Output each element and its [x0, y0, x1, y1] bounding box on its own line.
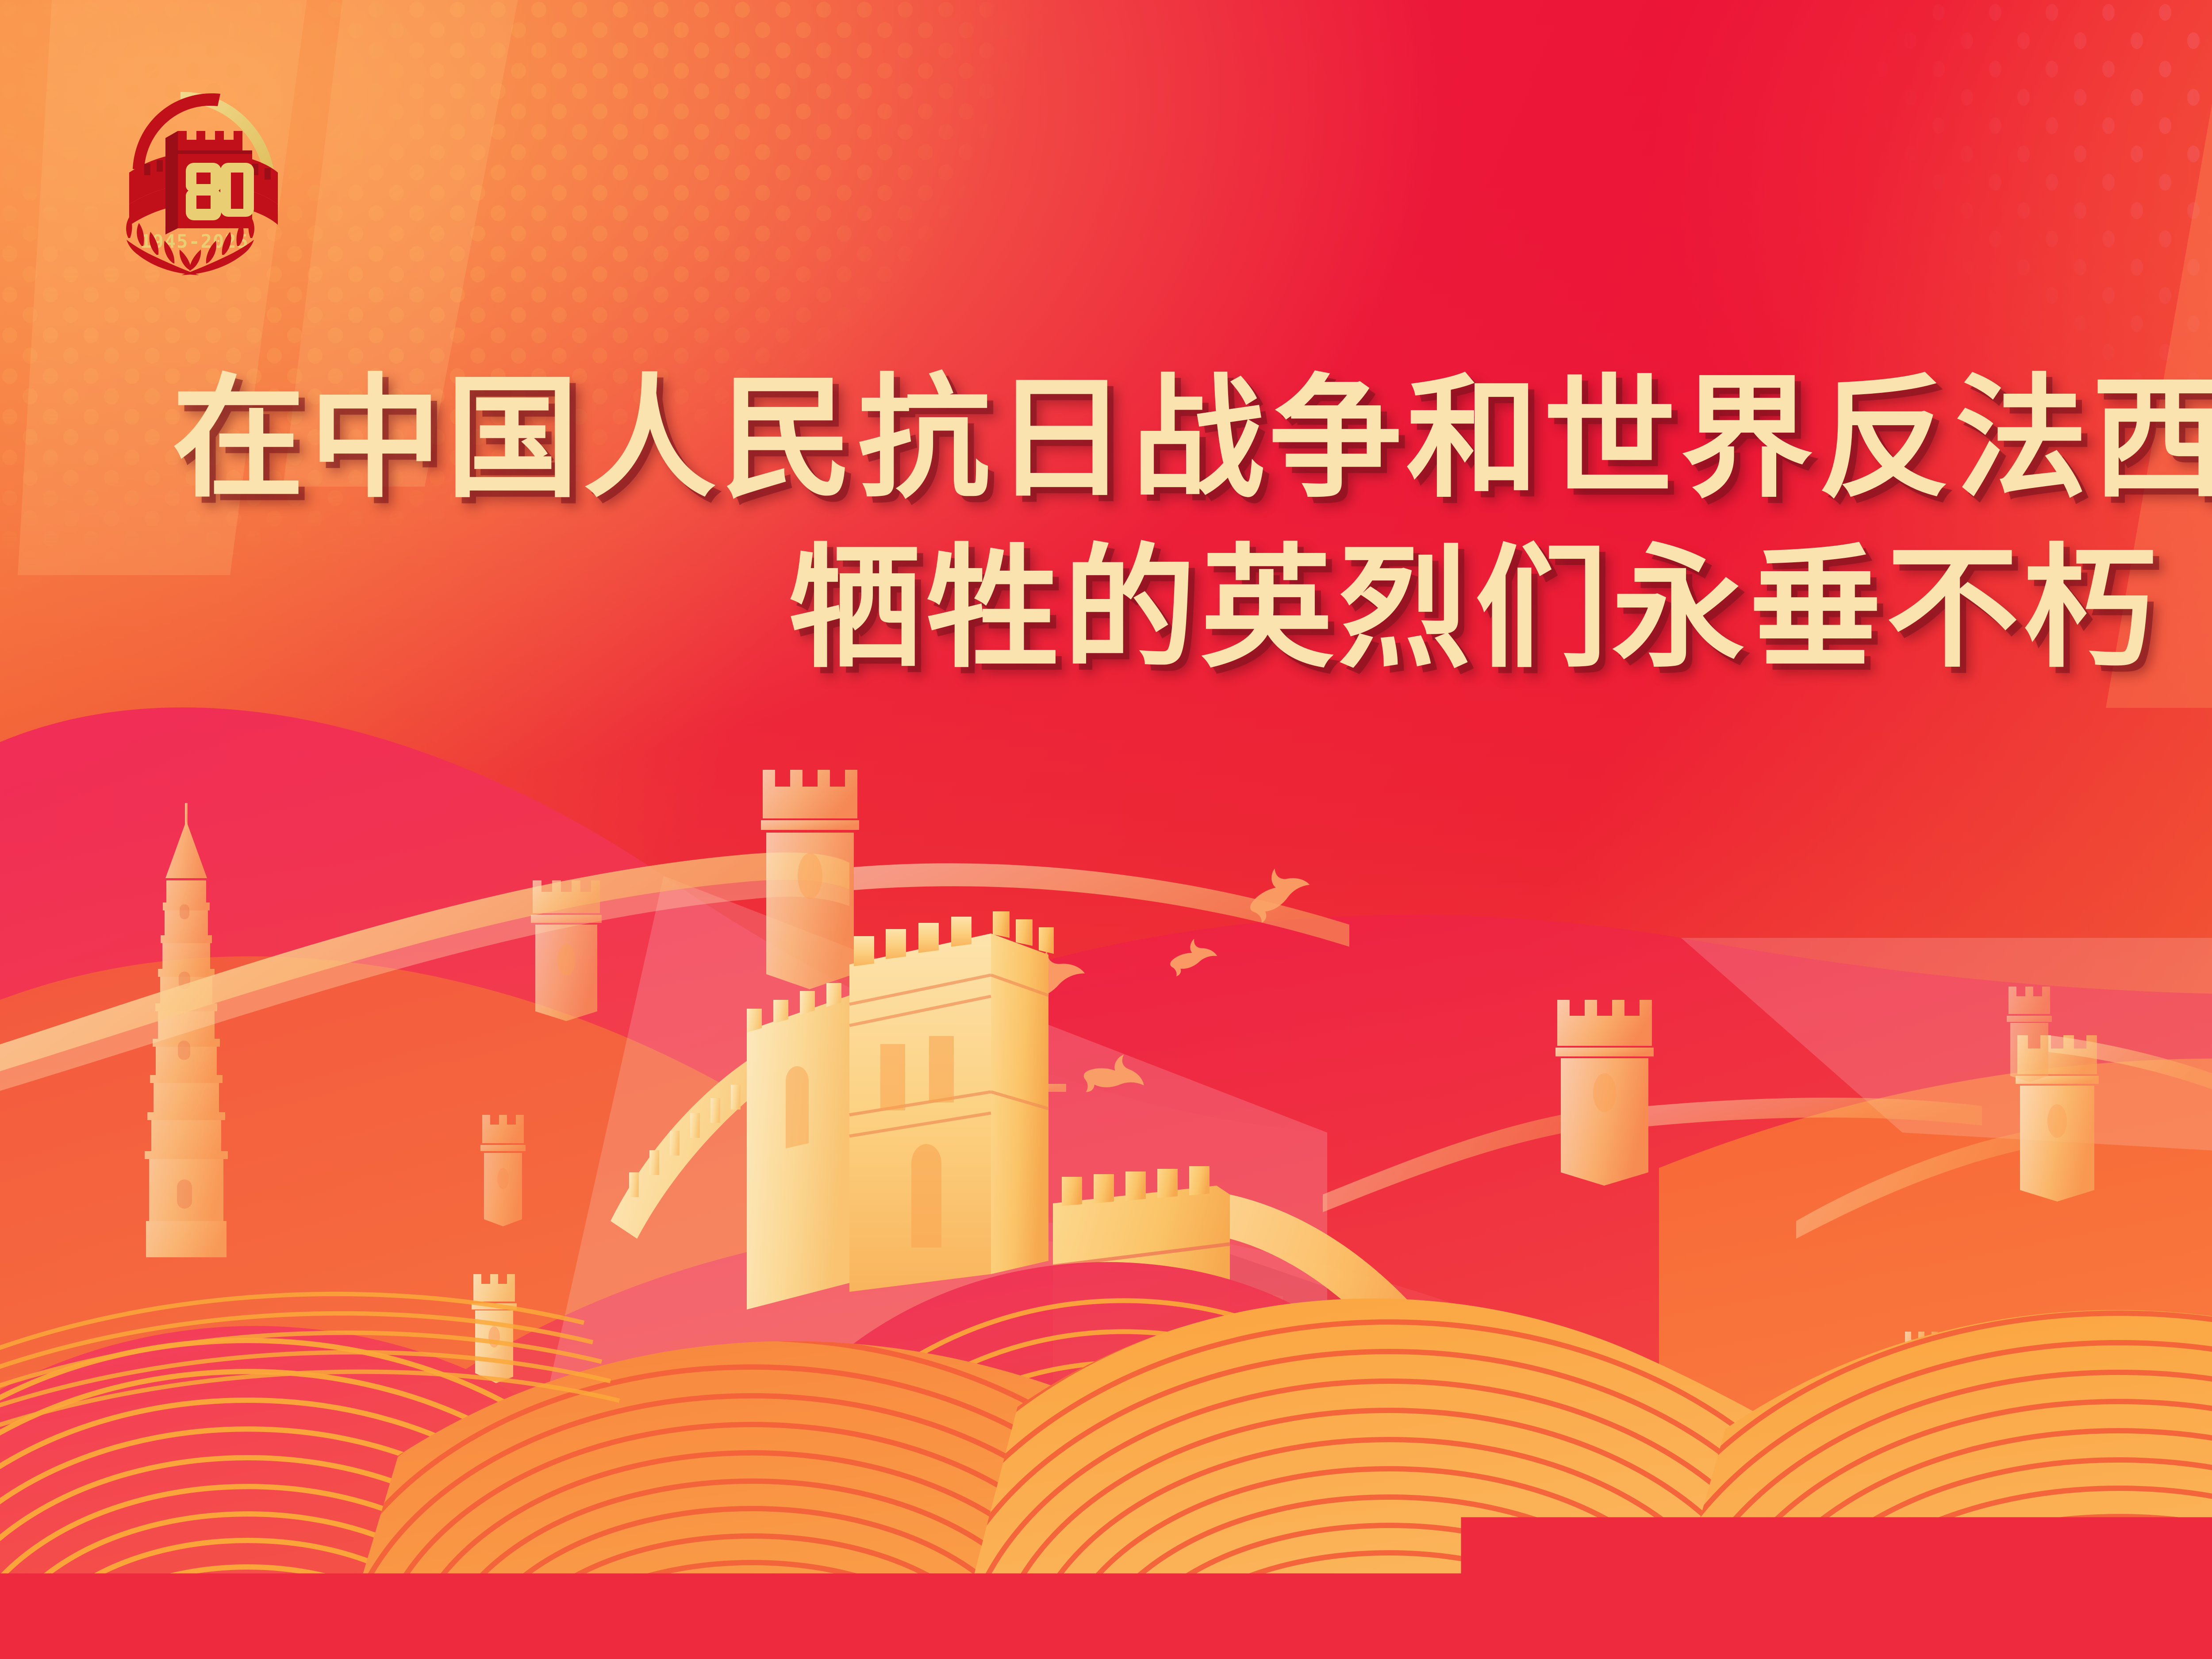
emblem-tower-crenel — [168, 131, 242, 150]
anniversary-emblem: 1945-2025 — [66, 40, 314, 288]
foreground-wave-hills — [0, 0, 2212, 1659]
poster-canvas: 1945-2025 — [0, 0, 2212, 1659]
